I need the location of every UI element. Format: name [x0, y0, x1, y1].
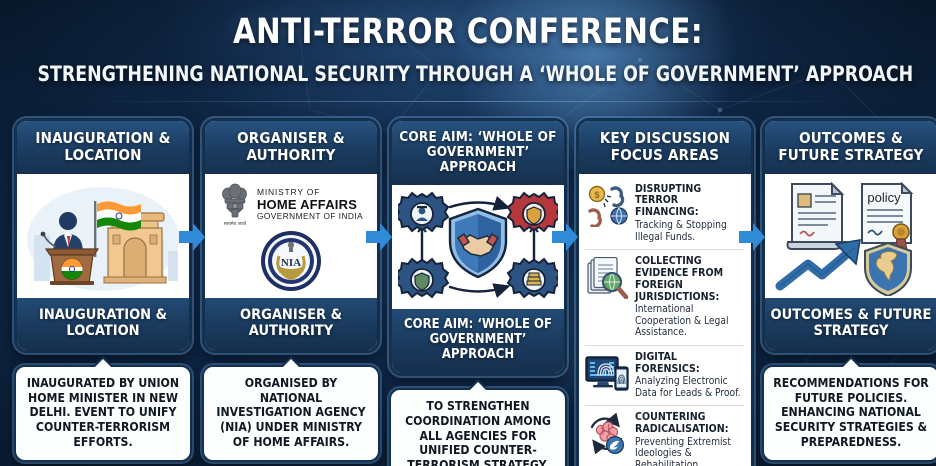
column-core-aim[interactable]: CORE AIM: ‘WHOLE OF GOVERNMENT’ APPROACH [389, 118, 567, 466]
page-subtitle: STRENGTHENING NATIONAL SECURITY THROUGH … [37, 62, 898, 86]
card-footer-label: INAUGURATION & LOCATION [17, 298, 189, 350]
card-core-aim[interactable]: CORE AIM: ‘WHOLE OF GOVERNMENT’ APPROACH [389, 118, 567, 376]
focus-heading: COLLECTING EVIDENCE FROM FOREIGN JURISDI… [635, 256, 744, 303]
outcomes-illustration: policy [765, 174, 936, 298]
card-header-label: CORE AIM: ‘WHOLE OF GOVERNMENT’ APPROACH [392, 121, 564, 185]
focus-body: Tracking & Stopping Illegal Funds. [635, 220, 744, 243]
list-item[interactable]: COUNTERING RADICALISATION: Preventing Ex… [585, 406, 744, 466]
column-organiser[interactable]: ORGANISER & AUTHORITY [202, 118, 380, 462]
nia-seal-text: NIA [281, 257, 301, 269]
column-inauguration[interactable]: INAUGURATION & LOCATION [14, 118, 192, 462]
list-item[interactable]: DIGITAL FORENSICS: Analyzing Electronic … [585, 346, 744, 407]
nia-seal-icon: NIA NATIONAL INVESTIGATION AGENCY [260, 230, 322, 292]
card-footer-label: OUTCOMES & FUTURE STRATEGY [765, 298, 936, 350]
svg-text:$: $ [594, 190, 599, 200]
podium-speaker-india-gate-icon [20, 177, 186, 295]
core-aim-illustration [392, 185, 564, 309]
card-header-label: KEY DISCUSSION FOCUS AREAS [579, 121, 751, 174]
caption-core-aim: TO STRENGTHEN COORDINATION AMONG ALL AGE… [389, 388, 567, 466]
ashoka-lion-capital-icon: सत्यमेव जयते [219, 183, 251, 227]
inauguration-illustration [17, 174, 189, 298]
focus-heading: COUNTERING RADICALISATION: [635, 412, 744, 436]
scroll-policy-growth-arrow-india-shield-icon: policy [770, 176, 932, 296]
emblem-line-2: HOME AFFAIRS [257, 198, 363, 213]
header-divider [90, 101, 846, 102]
page-title: ANTI-TERROR CONFERENCE: [33, 14, 903, 51]
caption-inauguration: INAUGURATED BY UNION HOME MINISTER IN NE… [14, 365, 192, 462]
focus-body: Analyzing Electronic Data for Leads & Pr… [635, 376, 744, 399]
caption-organiser: ORGANISED BY NATIONAL INVESTIGATION AGEN… [202, 365, 380, 462]
card-focus-areas[interactable]: KEY DISCUSSION FOCUS AREAS $ [576, 118, 754, 466]
card-organiser[interactable]: ORGANISER & AUTHORITY [202, 118, 380, 353]
list-item[interactable]: COLLECTING EVIDENCE FROM FOREIGN JURISDI… [585, 250, 744, 346]
card-footer-label: ORGANISER & AUTHORITY [205, 298, 377, 350]
list-item[interactable]: $ [585, 178, 744, 250]
header: ANTI-TERROR CONFERENCE: STRENGTHENING NA… [0, 0, 936, 108]
focus-body: International Cooperation & Legal Assist… [635, 304, 744, 338]
national-motto: सत्यमेव जयते [224, 220, 247, 227]
policy-label: policy [867, 190, 901, 205]
arrow-3-4 [552, 222, 578, 252]
arrow-2-3 [366, 222, 392, 252]
card-footer-label: CORE AIM: ‘WHOLE OF GOVERNMENT’ APPROACH [392, 309, 564, 372]
arrow-1-2 [179, 222, 205, 252]
focus-heading: DIGITAL FORENSICS: [635, 352, 744, 376]
card-header-label: ORGANISER & AUTHORITY [205, 121, 377, 174]
column-focus-areas[interactable]: KEY DISCUSSION FOCUS AREAS $ [576, 118, 754, 466]
columns-row: INAUGURATION & LOCATION [0, 118, 936, 466]
documents-magnifier-globe-icon [585, 256, 629, 300]
emblem-line-3: GOVERNMENT OF INDIA [257, 212, 363, 221]
focus-body: Preventing Extremist Ideologies & Rehabi… [635, 437, 744, 466]
focus-area-list: $ [579, 174, 751, 466]
card-header-label: INAUGURATION & LOCATION [17, 121, 189, 174]
broken-chain-dollar-globe-icon: $ [585, 184, 629, 228]
shield-handshake-with-four-gears-icon [398, 187, 558, 307]
computer-fingerprint-tablet-icon [585, 352, 629, 396]
card-header-label: OUTCOMES & FUTURE STRATEGY [765, 121, 936, 174]
organiser-emblems: सत्यमेव जयते MINISTRY OF HOME AFFAIRS GO… [205, 174, 377, 298]
card-outcomes[interactable]: OUTCOMES & FUTURE STRATEGY [762, 118, 936, 353]
column-outcomes[interactable]: OUTCOMES & FUTURE STRATEGY [762, 118, 936, 462]
card-inauguration[interactable]: INAUGURATION & LOCATION [14, 118, 192, 353]
arrow-4-5 [739, 222, 765, 252]
infographic-canvas: ANTI-TERROR CONFERENCE: STRENGTHENING NA… [0, 0, 936, 466]
caption-outcomes: RECOMMENDATIONS FOR FUTURE POLICIES. ENH… [762, 365, 936, 462]
focus-heading: DISRUPTING TERROR FINANCING: [635, 184, 744, 220]
brain-dove-cycle-icon [585, 412, 629, 456]
